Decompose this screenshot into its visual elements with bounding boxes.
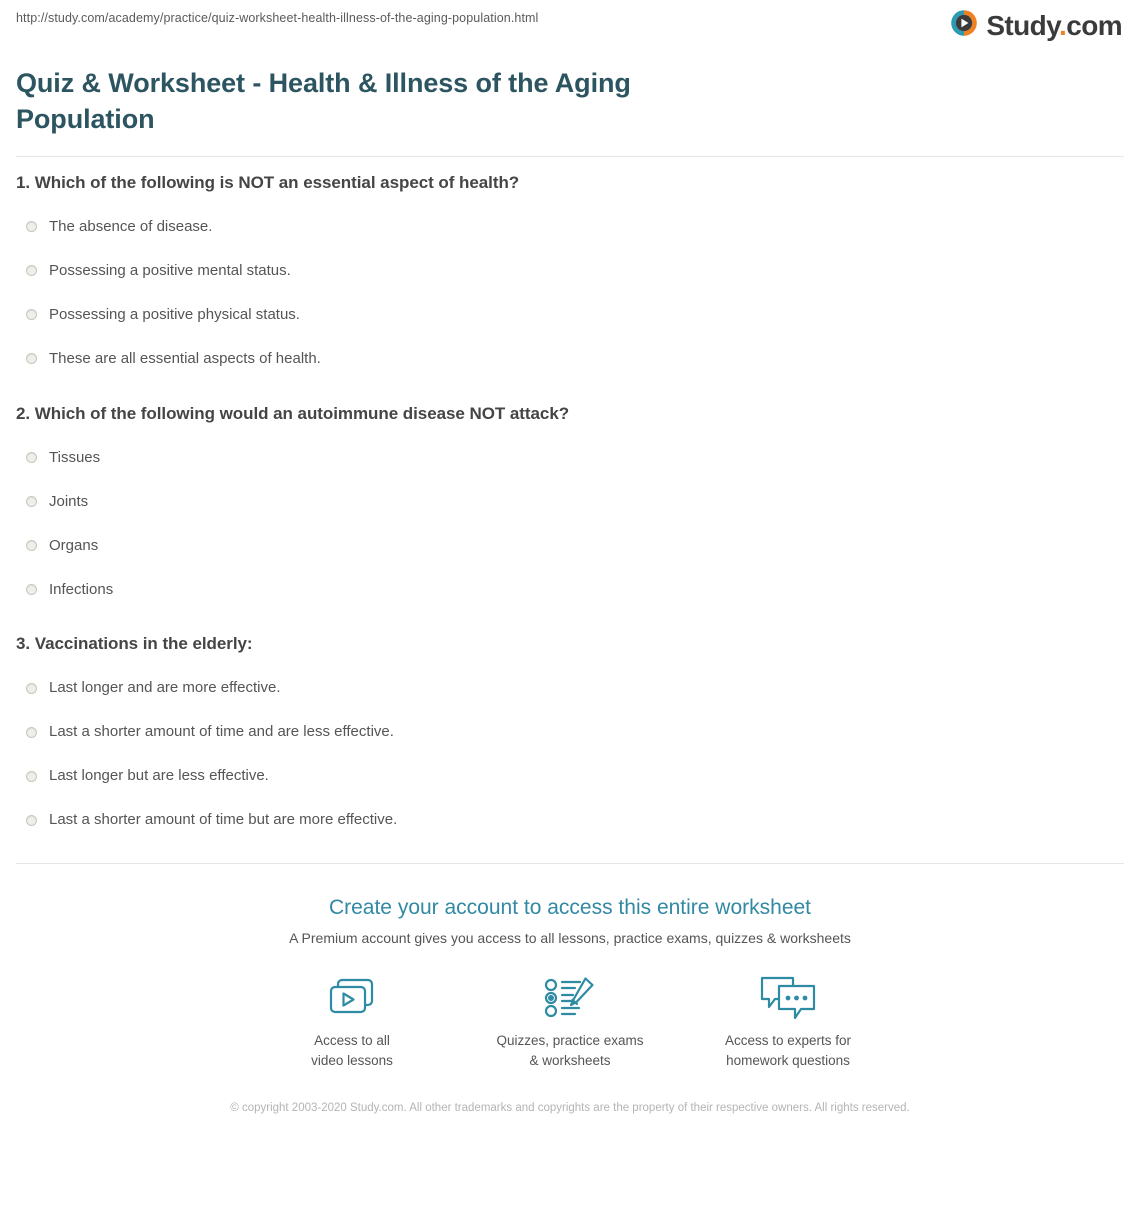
radio-button-icon[interactable]	[26, 683, 37, 694]
feature-label: Access to experts for homework questions	[679, 1031, 897, 1072]
option-row[interactable]: Organs	[16, 523, 1124, 567]
option-label: Last longer but are less effective.	[49, 766, 269, 786]
feature-label: Access to all video lessons	[243, 1031, 461, 1072]
radio-button-icon[interactable]	[26, 540, 37, 551]
option-label: Possessing a positive mental status.	[49, 261, 291, 281]
option-label: Joints	[49, 492, 88, 512]
question-block: 2. Which of the following would an autoi…	[16, 402, 1124, 612]
option-row[interactable]: Last longer but are less effective.	[16, 754, 1124, 798]
option-list: Last longer and are more effective. Last…	[16, 666, 1124, 842]
question-block: 3. Vaccinations in the elderly: Last lon…	[16, 632, 1124, 842]
question-text: 2. Which of the following would an autoi…	[16, 402, 1124, 426]
option-label: Possessing a positive physical status.	[49, 305, 300, 325]
page-url: http://study.com/academy/practice/quiz-w…	[16, 11, 538, 26]
option-row[interactable]: Last a shorter amount of time but are mo…	[16, 798, 1124, 842]
question-text: 3. Vaccinations in the elderly:	[16, 632, 1124, 656]
option-label: These are all essential aspects of healt…	[49, 349, 321, 369]
feature-label-line1: Access to experts for	[725, 1033, 851, 1048]
radio-button-icon[interactable]	[26, 496, 37, 507]
option-label: Last a shorter amount of time but are mo…	[49, 810, 397, 830]
option-label: The absence of disease.	[49, 217, 212, 237]
play-circle-icon	[949, 8, 979, 43]
radio-button-icon[interactable]	[26, 815, 37, 826]
divider-above-cta	[16, 863, 1124, 864]
feature-experts: Access to experts for homework questions	[679, 969, 897, 1072]
chat-bubbles-icon	[679, 969, 897, 1027]
page-title: Quiz & Worksheet - Health & Illness of t…	[16, 66, 756, 138]
option-row[interactable]: Possessing a positive physical status.	[16, 293, 1124, 337]
option-label: Tissues	[49, 448, 100, 468]
option-list: The absence of disease. Possessing a pos…	[16, 205, 1124, 381]
question-text: 1. Which of the following is NOT an esse…	[16, 171, 1124, 195]
feature-label-line1: Access to all	[314, 1033, 390, 1048]
feature-label-line2: video lessons	[311, 1053, 393, 1068]
option-row[interactable]: Infections	[16, 567, 1124, 611]
option-label: Organs	[49, 536, 98, 556]
feature-label-line2: & worksheets	[529, 1053, 610, 1068]
option-label: Infections	[49, 580, 113, 600]
quiz-pencil-icon	[461, 969, 679, 1027]
option-row[interactable]: Last a shorter amount of time and are le…	[16, 710, 1124, 754]
option-row[interactable]: Last longer and are more effective.	[16, 666, 1124, 710]
radio-button-icon[interactable]	[26, 452, 37, 463]
question-block: 1. Which of the following is NOT an esse…	[16, 171, 1124, 381]
feature-label: Quizzes, practice exams & worksheets	[461, 1031, 679, 1072]
cta-subtitle: A Premium account gives you access to al…	[16, 929, 1124, 947]
radio-button-icon[interactable]	[26, 771, 37, 782]
study-com-logo[interactable]: Study.com	[949, 8, 1124, 43]
copyright-notice: © copyright 2003-2020 Study.com. All oth…	[220, 1100, 920, 1117]
logo-tld: com	[1066, 10, 1122, 41]
questions-list: 1. Which of the following is NOT an esse…	[16, 157, 1124, 842]
option-list: Tissues Joints Organs Infections	[16, 435, 1124, 611]
video-lessons-icon	[243, 969, 461, 1027]
feature-quizzes: Quizzes, practice exams & worksheets	[461, 969, 679, 1072]
option-label: Last a shorter amount of time and are le…	[49, 722, 394, 742]
radio-button-icon[interactable]	[26, 727, 37, 738]
cta-title[interactable]: Create your account to access this entir…	[16, 895, 1124, 920]
feature-label-line1: Quizzes, practice exams	[496, 1033, 643, 1048]
option-row[interactable]: These are all essential aspects of healt…	[16, 337, 1124, 381]
radio-button-icon[interactable]	[26, 309, 37, 320]
logo-word-study: Study	[986, 10, 1059, 41]
radio-button-icon[interactable]	[26, 265, 37, 276]
option-row[interactable]: The absence of disease.	[16, 205, 1124, 249]
option-row[interactable]: Joints	[16, 479, 1124, 523]
create-account-cta: Create your account to access this entir…	[16, 895, 1124, 1071]
worksheet-page: http://study.com/academy/practice/quiz-w…	[0, 0, 1140, 1208]
option-label: Last longer and are more effective.	[49, 678, 281, 698]
option-row[interactable]: Tissues	[16, 435, 1124, 479]
feature-video-lessons: Access to all video lessons	[243, 969, 461, 1072]
radio-button-icon[interactable]	[26, 221, 37, 232]
radio-button-icon[interactable]	[26, 584, 37, 595]
logo-wordmark: Study.com	[986, 12, 1122, 40]
option-row[interactable]: Possessing a positive mental status.	[16, 249, 1124, 293]
radio-button-icon[interactable]	[26, 353, 37, 364]
feature-label-line2: homework questions	[726, 1053, 850, 1068]
print-header: http://study.com/academy/practice/quiz-w…	[16, 0, 1124, 56]
feature-list: Access to all video lessons	[16, 969, 1124, 1072]
